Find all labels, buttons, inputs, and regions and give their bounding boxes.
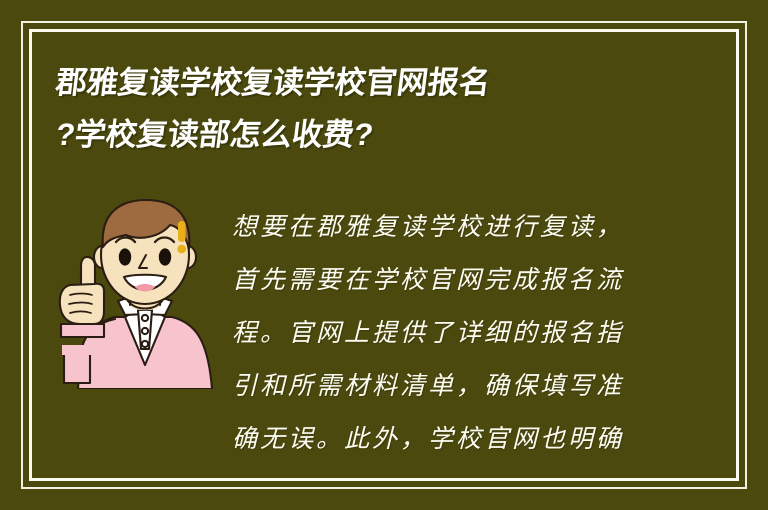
body-line: 程。官网上提供了详细的报名指 bbox=[232, 306, 752, 359]
body-line: 引和所需材料清单，确保填写准 bbox=[232, 359, 752, 412]
shirt-button-3 bbox=[142, 341, 148, 347]
page-title-line-2: ?学校复读部怎么收费? bbox=[53, 109, 699, 161]
page-title-line-1: 郡雅复读学校复读学校官网报名 bbox=[53, 57, 699, 109]
exclamation-mark-icon bbox=[177, 221, 186, 253]
sleeve-cuff bbox=[61, 324, 104, 337]
pointing-boy-mascot bbox=[56, 197, 234, 389]
body-line: 想要在郡雅复读学校进行复读， bbox=[232, 200, 752, 253]
shirt-button-1 bbox=[142, 315, 148, 321]
page-title: 郡雅复读学校复读学校官网报名 ?学校复读部怎么收费? bbox=[56, 57, 696, 161]
body-line: 确无误。此外，学校官网也明确 bbox=[232, 412, 752, 465]
poster-canvas: 郡雅复读学校复读学校官网报名 ?学校复读部怎么收费? bbox=[0, 0, 768, 510]
fist bbox=[60, 284, 104, 324]
body-paragraph: 想要在郡雅复读学校进行复读， 首先需要在学校官网完成报名流 程。官网上提供了详细… bbox=[232, 200, 752, 465]
shirt-button-2 bbox=[142, 328, 148, 334]
body-line: 首先需要在学校官网完成报名流 bbox=[232, 253, 752, 306]
eye-left bbox=[119, 248, 131, 265]
eye-right bbox=[159, 248, 171, 265]
